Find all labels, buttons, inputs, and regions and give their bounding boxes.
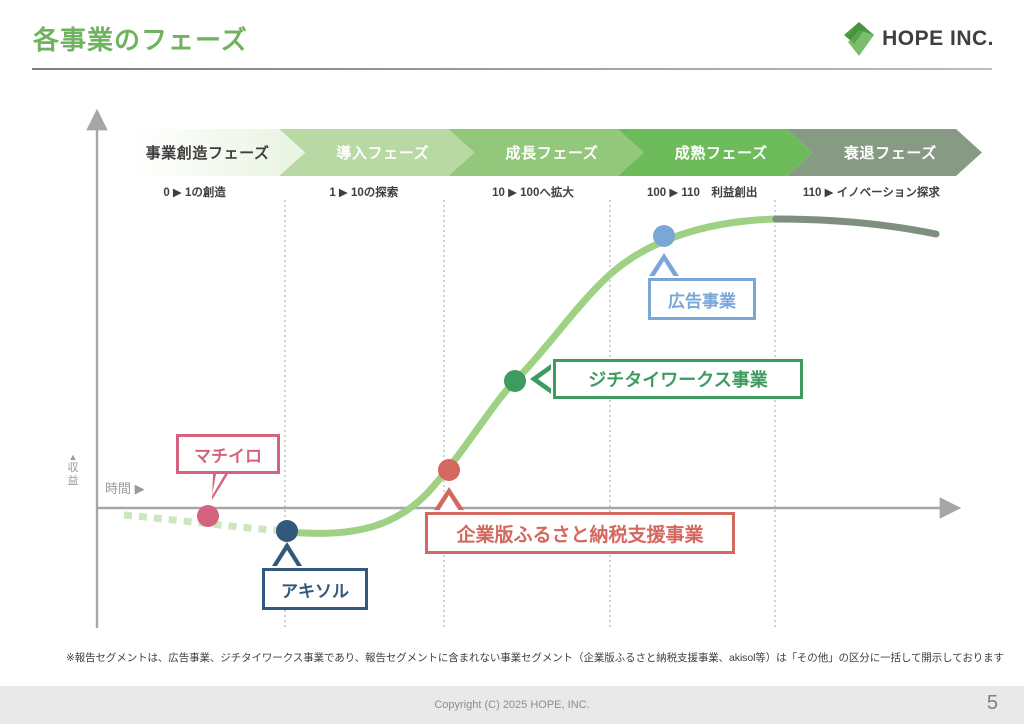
x-axis-label: 時間 ▶ bbox=[105, 478, 145, 497]
phase-chevron-4[interactable]: 成熟フェーズ bbox=[618, 129, 813, 176]
callout-akisol-label: アキソル bbox=[281, 577, 349, 602]
pointer-machiiro bbox=[212, 474, 228, 500]
phase-chevron-3[interactable]: 成長フェーズ bbox=[448, 129, 643, 176]
phase-gridlines bbox=[285, 200, 775, 628]
title-divider bbox=[32, 68, 992, 70]
copyright-text: Copyright (C) 2025 HOPE, INC. bbox=[0, 699, 1024, 711]
callout-jichitai-label: ジチタイワークス事業 bbox=[588, 366, 767, 392]
callout-machiiro-label: マチイロ bbox=[194, 442, 262, 467]
pointer-kigyo bbox=[434, 487, 464, 510]
phase-chevron-1-label: 事業創造フェーズ bbox=[146, 142, 270, 163]
page-title: 各事業のフェーズ bbox=[33, 20, 248, 57]
page-number: 5 bbox=[987, 692, 998, 715]
callout-koukoku[interactable]: 広告事業 bbox=[648, 278, 756, 320]
phase-chevron-5-label: 衰退フェーズ bbox=[844, 142, 937, 163]
curve-dotted-early bbox=[124, 515, 287, 531]
logo-text: HOPE INC. bbox=[882, 27, 994, 51]
callout-koukoku-label: 広告事業 bbox=[668, 287, 736, 312]
y-axis-arrow-icon: ▲ bbox=[63, 452, 83, 462]
pointer-koukoku bbox=[649, 253, 679, 276]
pointer-akisol-inner bbox=[275, 550, 299, 569]
marker-koukoku bbox=[653, 225, 675, 247]
callout-machiiro[interactable]: マチイロ bbox=[176, 434, 280, 474]
footnote: ※報告セグメントは、広告事業、ジチタイワークス事業であり、報告セグメントに含まれ… bbox=[66, 650, 1004, 665]
phase-sublabel-5: 110 ▶ イノベーション探求 bbox=[787, 184, 956, 200]
callout-kigyo-furusato[interactable]: 企業版ふるさと納税支援事業 bbox=[425, 512, 735, 554]
marker-jichitai bbox=[504, 370, 526, 392]
phase-sublabel-4: 100 ▶ 110 利益創出 bbox=[618, 184, 787, 200]
phase-chevron-2-label: 導入フェーズ bbox=[336, 142, 429, 163]
phase-chevron-2[interactable]: 導入フェーズ bbox=[279, 129, 474, 176]
marker-akisol bbox=[276, 520, 298, 542]
y-axis-label-text: 収益 bbox=[68, 462, 79, 487]
phase-banner: 事業創造フェーズ導入フェーズ成長フェーズ成熟フェーズ衰退フェーズ bbox=[110, 129, 956, 176]
phase-sublabel-3: 10 ▶ 100へ拡大 bbox=[448, 184, 617, 200]
phase-chevron-1[interactable]: 事業創造フェーズ bbox=[110, 129, 305, 176]
slide-canvas: 各事業のフェーズ HOPE INC. 事業創造フェーズ導入フェーズ成長フェーズ成… bbox=[0, 0, 1024, 724]
callout-jichitai-works[interactable]: ジチタイワークス事業 bbox=[553, 359, 803, 399]
marker-machiiro bbox=[197, 505, 219, 527]
phase-chevron-5[interactable]: 衰退フェーズ bbox=[787, 129, 982, 176]
phase-chevron-3-label: 成長フェーズ bbox=[506, 142, 599, 163]
hope-diamond-icon bbox=[844, 22, 874, 56]
callout-akisol[interactable]: アキソル bbox=[262, 568, 368, 610]
phase-sublabels: 0 ▶ 1の創造1 ▶ 10の探索10 ▶ 100へ拡大100 ▶ 110 利益… bbox=[110, 184, 956, 202]
phase-sublabel-2: 1 ▶ 10の探索 bbox=[279, 184, 448, 200]
callout-kigyo-label: 企業版ふるさと納税支援事業 bbox=[456, 520, 703, 547]
pointer-machiiro-inner bbox=[212, 474, 225, 496]
pointer-akisol bbox=[272, 542, 302, 566]
marker-kigyo bbox=[438, 459, 460, 481]
phase-chevron-4-label: 成熟フェーズ bbox=[675, 142, 768, 163]
y-axis-label: ▲ 収益 bbox=[63, 452, 83, 488]
phase-sublabel-1: 0 ▶ 1の創造 bbox=[110, 184, 279, 200]
curve-decline bbox=[776, 219, 936, 234]
company-logo: HOPE INC. bbox=[844, 22, 994, 56]
lifecycle-chart bbox=[0, 0, 1024, 724]
pointer-jichitai bbox=[530, 364, 551, 394]
